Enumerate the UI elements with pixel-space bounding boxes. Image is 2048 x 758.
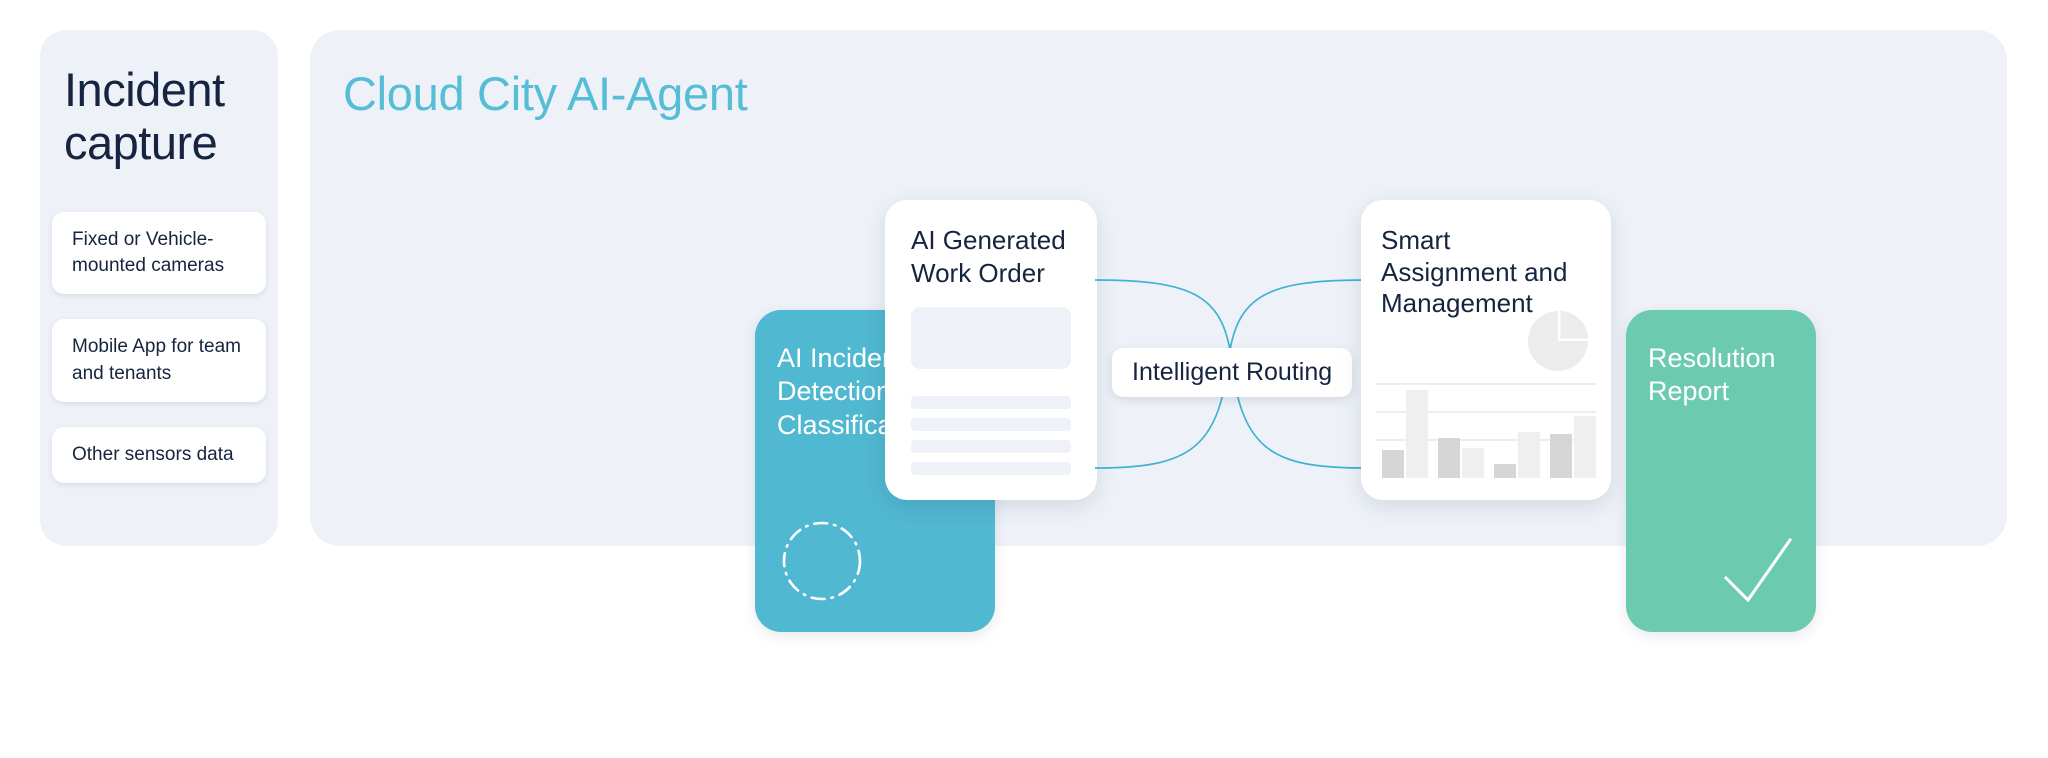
pie-chart-icon: [1527, 310, 1589, 372]
incident-capture-panel: Incident capture Fixed or Vehicle-mounte…: [40, 30, 278, 546]
work-order-line: [911, 418, 1071, 431]
work-order-line: [911, 440, 1071, 453]
check-icon: [1722, 534, 1794, 606]
card-smart-assignment[interactable]: Smart Assignment and Management: [1361, 200, 1611, 500]
card-title-work-order: AI Generated Work Order: [911, 224, 1076, 289]
capture-source-list: Fixed or Vehicle-mounted cameras Mobile …: [52, 212, 266, 483]
sidebar-title: Incident capture: [64, 64, 254, 169]
capture-source-card-cameras[interactable]: Fixed or Vehicle-mounted cameras: [52, 212, 266, 294]
capture-source-card-sensors[interactable]: Other sensors data: [52, 427, 266, 483]
capture-source-card-mobile-app[interactable]: Mobile App for team and tenants: [52, 319, 266, 401]
bar-chart-icon: [1376, 378, 1596, 478]
card-title-resolution: Resolution Report: [1648, 342, 1808, 409]
dashed-circle-icon: [781, 520, 863, 602]
diagram-canvas: Incident capture Fixed or Vehicle-mounte…: [0, 0, 2048, 758]
cloud-city-ai-agent-panel: Cloud City AI-Agent AI Incident Detectio…: [310, 30, 2007, 546]
work-order-line: [911, 396, 1071, 409]
intelligent-routing-label[interactable]: Intelligent Routing: [1112, 348, 1352, 397]
card-resolution-report[interactable]: Resolution Report: [1626, 310, 1816, 632]
work-order-line: [911, 462, 1071, 475]
work-order-text-placeholders: [911, 396, 1071, 475]
card-ai-generated-work-order[interactable]: AI Generated Work Order: [885, 200, 1097, 500]
panel-title: Cloud City AI-Agent: [343, 68, 747, 120]
card-title-assignment: Smart Assignment and Management: [1381, 225, 1581, 320]
work-order-image-placeholder: [911, 307, 1071, 369]
